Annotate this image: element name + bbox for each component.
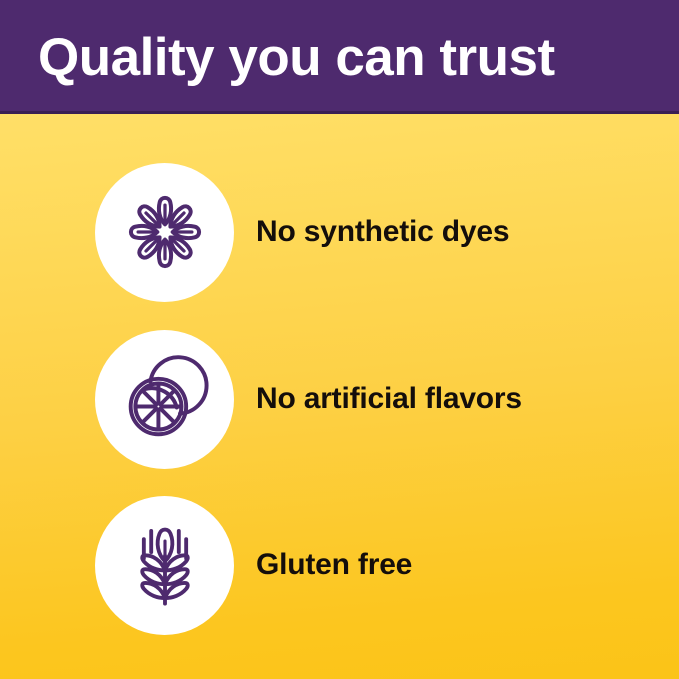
- quality-claims-graphic: Quality you can trust: [0, 0, 679, 679]
- feature-icon-badge: [95, 330, 234, 469]
- list-item: No synthetic dyes: [0, 162, 679, 302]
- feature-label: Gluten free: [256, 548, 412, 582]
- wheat-stalk-icon: [119, 519, 211, 611]
- feature-label: No synthetic dyes: [256, 215, 509, 249]
- list-item: No artificial flavors: [0, 329, 679, 469]
- feature-label: No artificial flavors: [256, 382, 522, 416]
- list-item: Gluten free: [0, 495, 679, 635]
- feature-icon-badge: [95, 163, 234, 302]
- flower-petals-icon: [117, 184, 213, 280]
- page-title: Quality you can trust: [38, 31, 555, 84]
- feature-list: No synthetic dyes: [0, 114, 679, 679]
- header-banner: Quality you can trust: [0, 0, 679, 114]
- citrus-slice-icon: [118, 352, 212, 446]
- feature-icon-badge: [95, 496, 234, 635]
